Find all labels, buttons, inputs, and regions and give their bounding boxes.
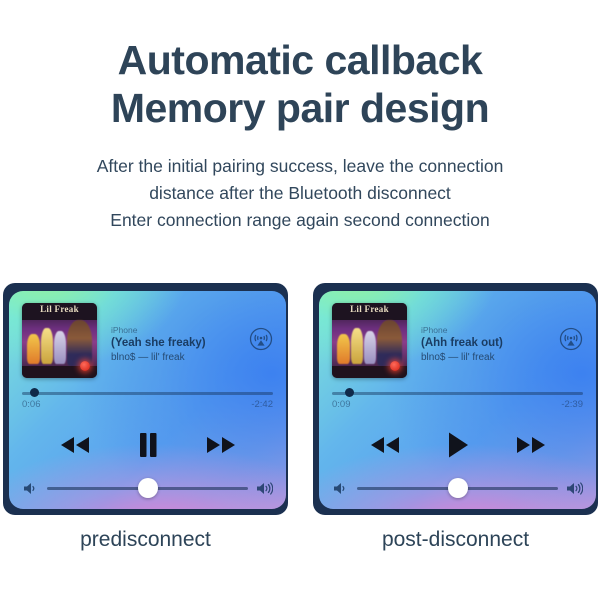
progress-section[interactable]: 0:09 -2:39 bbox=[332, 388, 583, 414]
pause-icon[interactable] bbox=[126, 428, 170, 462]
progress-track[interactable] bbox=[22, 392, 273, 395]
panel-captions: predisconnect post-disconnect bbox=[0, 528, 600, 568]
page-title: Automatic callback Memory pair design bbox=[0, 0, 600, 131]
progress-section[interactable]: 0:06 -2:42 bbox=[22, 388, 273, 414]
progress-knob[interactable] bbox=[345, 388, 354, 397]
caption-post-disconnect: post-disconnect bbox=[313, 528, 598, 552]
fast-forward-icon[interactable] bbox=[199, 428, 243, 462]
source-device-label: iPhone bbox=[421, 325, 559, 336]
elapsed-time: 0:09 bbox=[332, 399, 351, 410]
subtitle-line-2: distance after the Bluetooth disconnect bbox=[0, 180, 600, 207]
subtitle-block: After the initial pairing success, leave… bbox=[0, 153, 600, 234]
volume-knob[interactable] bbox=[138, 478, 158, 498]
rewind-icon[interactable] bbox=[53, 428, 97, 462]
fast-forward-icon[interactable] bbox=[509, 428, 553, 462]
player-panel-post-disconnect: Lil Freak iPhone (Ahh freak out) blno$ —… bbox=[313, 283, 598, 515]
transport-controls bbox=[332, 420, 583, 470]
source-device-label: iPhone bbox=[111, 325, 249, 336]
volume-slider[interactable] bbox=[47, 479, 248, 497]
subtitle-line-3: Enter connection range again second conn… bbox=[0, 207, 600, 234]
music-player-card: Lil Freak iPhone (Yeah she freaky) blno$… bbox=[9, 291, 286, 509]
transport-controls bbox=[22, 420, 273, 470]
album-art-title: Lil Freak bbox=[22, 304, 97, 314]
subtitle-line-1: After the initial pairing success, leave… bbox=[0, 153, 600, 180]
speaker-low-icon[interactable] bbox=[22, 480, 39, 497]
track-title: (Ahh freak out) bbox=[421, 336, 559, 351]
speaker-high-icon[interactable] bbox=[566, 480, 583, 497]
headline-line-2: Memory pair design bbox=[0, 82, 600, 130]
remaining-time: -2:42 bbox=[251, 399, 273, 410]
progress-knob[interactable] bbox=[30, 388, 39, 397]
remaining-time: -2:39 bbox=[561, 399, 583, 410]
track-artist: blno$ — lil' freak bbox=[111, 351, 249, 364]
play-icon[interactable] bbox=[436, 428, 480, 462]
speaker-high-icon[interactable] bbox=[256, 480, 273, 497]
now-playing-row: Lil Freak iPhone (Yeah she freaky) blno$… bbox=[22, 303, 273, 381]
album-artwork: Lil Freak bbox=[22, 303, 97, 378]
album-artwork: Lil Freak bbox=[332, 303, 407, 378]
track-title: (Yeah she freaky) bbox=[111, 336, 249, 351]
speaker-low-icon[interactable] bbox=[332, 480, 349, 497]
volume-section bbox=[332, 472, 583, 504]
track-metadata: iPhone (Yeah she freaky) blno$ — lil' fr… bbox=[97, 303, 249, 364]
track-artist: blno$ — lil' freak bbox=[421, 351, 559, 364]
volume-slider[interactable] bbox=[357, 479, 558, 497]
rewind-icon[interactable] bbox=[363, 428, 407, 462]
progress-track[interactable] bbox=[332, 392, 583, 395]
elapsed-time: 0:06 bbox=[22, 399, 41, 410]
player-panel-predisconnect: Lil Freak iPhone (Yeah she freaky) blno$… bbox=[3, 283, 288, 515]
volume-knob[interactable] bbox=[448, 478, 468, 498]
player-comparison: Lil Freak iPhone (Yeah she freaky) blno$… bbox=[0, 283, 600, 523]
airplay-icon[interactable] bbox=[559, 327, 583, 351]
music-player-card: Lil Freak iPhone (Ahh freak out) blno$ —… bbox=[319, 291, 596, 509]
volume-section bbox=[22, 472, 273, 504]
caption-predisconnect: predisconnect bbox=[3, 528, 288, 552]
airplay-icon[interactable] bbox=[249, 327, 273, 351]
now-playing-row: Lil Freak iPhone (Ahh freak out) blno$ —… bbox=[332, 303, 583, 381]
album-art-title: Lil Freak bbox=[332, 304, 407, 314]
headline-line-1: Automatic callback bbox=[0, 0, 600, 82]
track-metadata: iPhone (Ahh freak out) blno$ — lil' frea… bbox=[407, 303, 559, 364]
